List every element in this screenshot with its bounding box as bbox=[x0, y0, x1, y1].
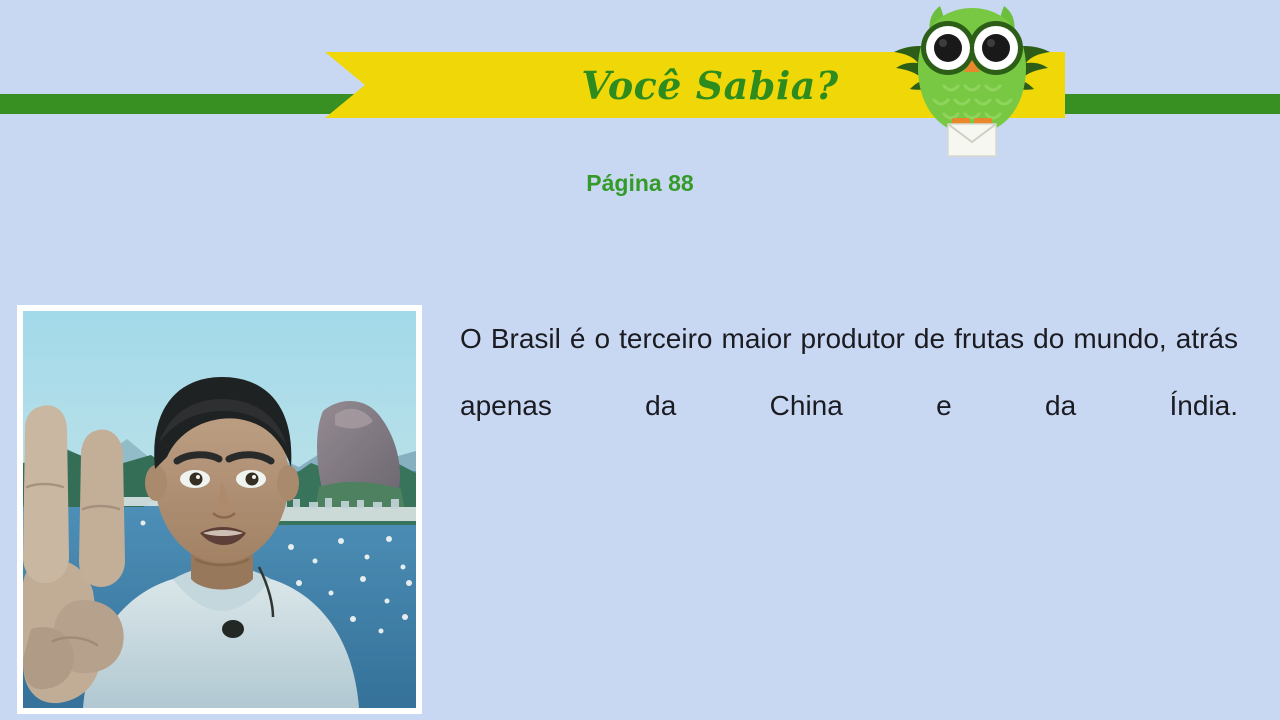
owl-mascot-icon bbox=[884, 0, 1060, 162]
photo-frame bbox=[23, 311, 416, 708]
banner-title: Você Sabia? bbox=[551, 63, 838, 108]
header-band: Você Sabia? bbox=[0, 0, 1280, 170]
fact-text: O Brasil é o terceiro maior produtor de … bbox=[460, 305, 1238, 506]
presenter-video-thumbnail[interactable] bbox=[17, 305, 422, 714]
page-number-label: Página 88 bbox=[0, 170, 1280, 197]
